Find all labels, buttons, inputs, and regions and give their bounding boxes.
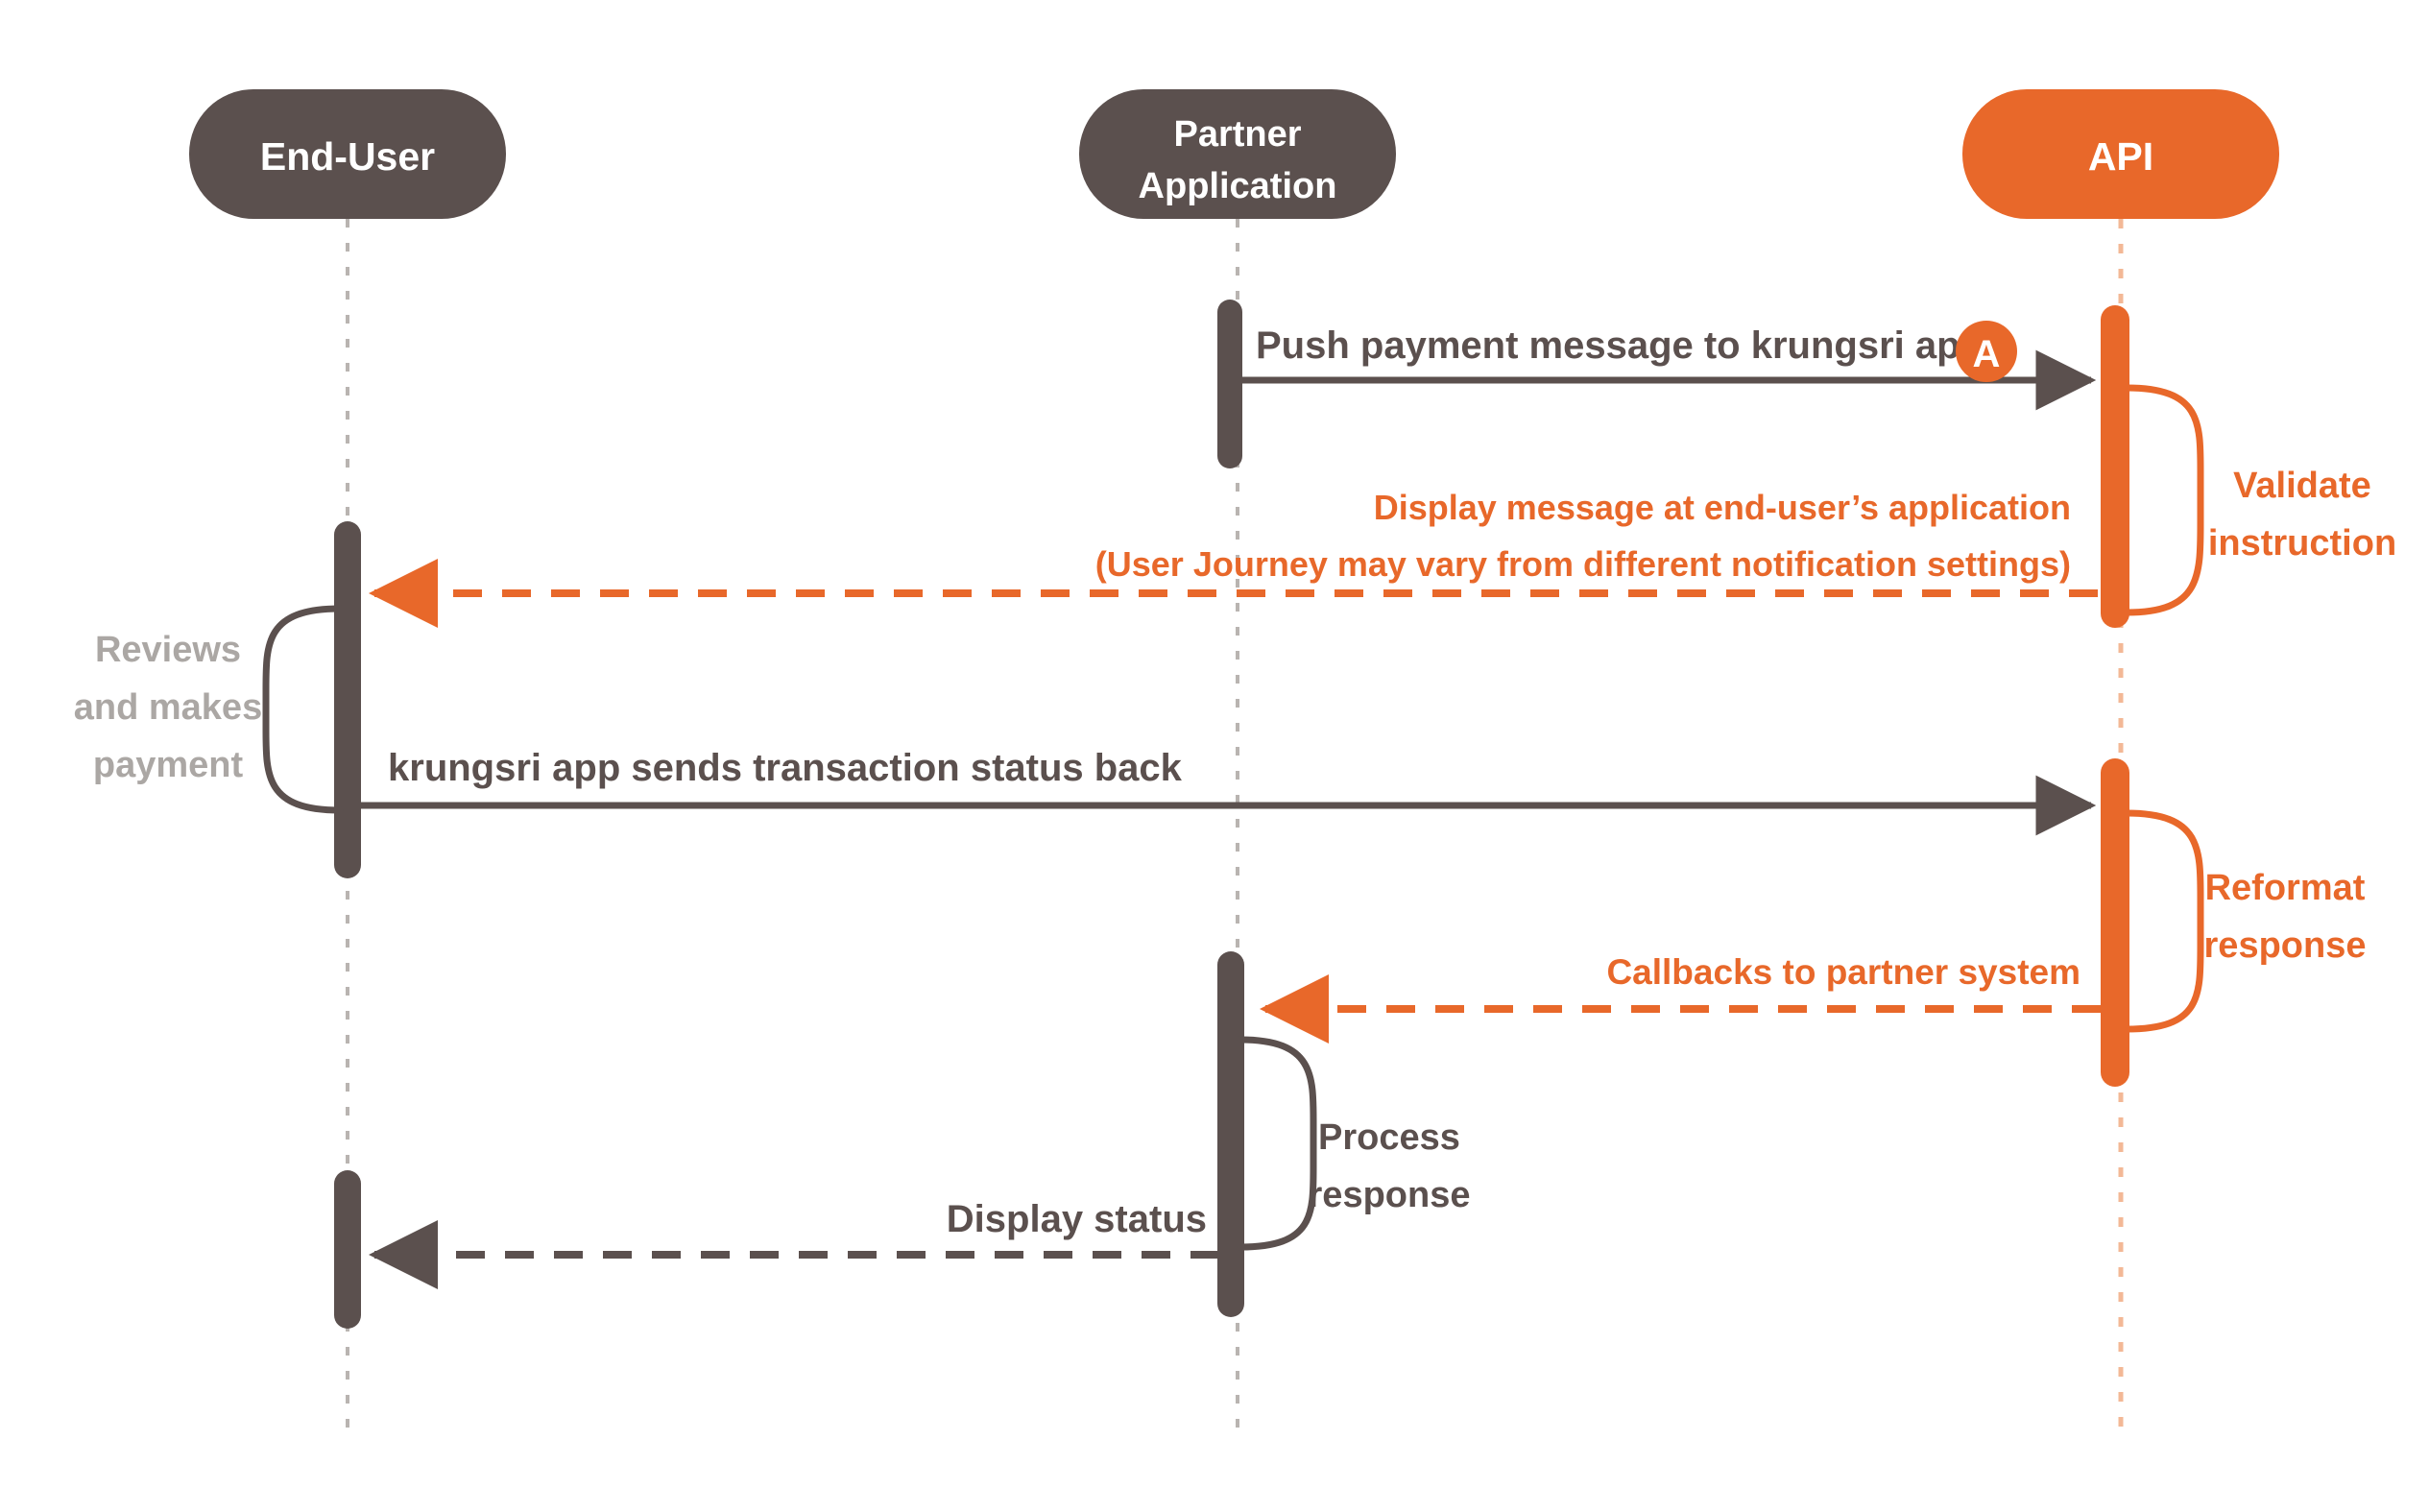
- message-display-status[interactable]: Display status: [374, 1198, 1219, 1255]
- actor-label-api: API: [2088, 134, 2153, 179]
- self-loop-arc-reformat-response: [2127, 813, 2201, 1029]
- self-action-label-reformat-response: Reformat response: [2204, 868, 2367, 966]
- badge-a-letter: A: [1973, 333, 2001, 375]
- self-action-label-process-response: Process response: [1309, 1117, 1471, 1215]
- message-label-push-payment: Push payment message to krungsri app: [1256, 324, 1984, 367]
- message-transaction-status-back[interactable]: krungsri app sends transaction status ba…: [361, 747, 2091, 805]
- self-action-reformat-response-line2: response: [2204, 925, 2367, 966]
- self-action-reviews-payment-line3: payment: [93, 745, 244, 785]
- activation-bar-partner-1: [1217, 300, 1242, 468]
- activation-bar-end-user-1: [334, 521, 361, 878]
- self-action-process-response-line2: response: [1309, 1175, 1471, 1215]
- message-display-message[interactable]: Display message at end-user’s applicatio…: [374, 488, 2098, 593]
- self-action-validate-instruction-line1: Validate: [2233, 466, 2371, 506]
- actor-partner-application[interactable]: Partner Application: [1079, 89, 1396, 219]
- message-label-display-message-line2: (User Journey may vary from different no…: [1095, 544, 2071, 584]
- self-action-reviews-payment-line2: and makes: [74, 687, 262, 728]
- actor-label-partner-application-line2: Application: [1139, 166, 1337, 206]
- actor-api[interactable]: API: [1962, 89, 2279, 219]
- actor-end-user[interactable]: End-User: [189, 89, 506, 219]
- activation-bar-partner-2: [1217, 951, 1244, 1317]
- self-loop-arc-process-response: [1240, 1040, 1313, 1247]
- message-label-transaction-status-back: krungsri app sends transaction status ba…: [388, 747, 1183, 789]
- activation-bar-end-user-2: [334, 1170, 361, 1329]
- message-label-callbacks-to-partner: Callbacks to partner system: [1606, 952, 2080, 992]
- message-callbacks-to-partner[interactable]: Callbacks to partner system: [1265, 952, 2101, 1009]
- self-action-label-reviews-payment: Reviews and makes payment: [74, 630, 262, 785]
- self-action-label-validate-instruction: Validate instruction: [2208, 466, 2396, 564]
- message-label-display-message-line1: Display message at end-user’s applicatio…: [1374, 488, 2071, 527]
- self-action-reviews-payment-line1: Reviews: [95, 630, 241, 670]
- actor-label-end-user: End-User: [260, 134, 435, 179]
- message-label-display-status: Display status: [947, 1198, 1207, 1240]
- self-loop-arc-reviews-payment: [266, 609, 340, 810]
- message-push-payment[interactable]: Push payment message to krungsri app A: [1242, 321, 2091, 382]
- self-action-process-response-line1: Process: [1318, 1117, 1460, 1158]
- activation-bars: [334, 300, 2129, 1329]
- self-loop-arc-validate-instruction: [2127, 388, 2201, 612]
- activation-bar-api-1: [2101, 305, 2129, 628]
- sequence-diagram-canvas: End-User Partner Application API: [0, 0, 2429, 1512]
- self-action-reformat-response-line1: Reformat: [2205, 868, 2366, 908]
- activation-bar-api-2: [2101, 758, 2129, 1087]
- self-action-validate-instruction-line2: instruction: [2208, 523, 2396, 564]
- actor-label-partner-application-line1: Partner: [1173, 114, 1301, 155]
- sequence-diagram: End-User Partner Application API: [0, 0, 2429, 1512]
